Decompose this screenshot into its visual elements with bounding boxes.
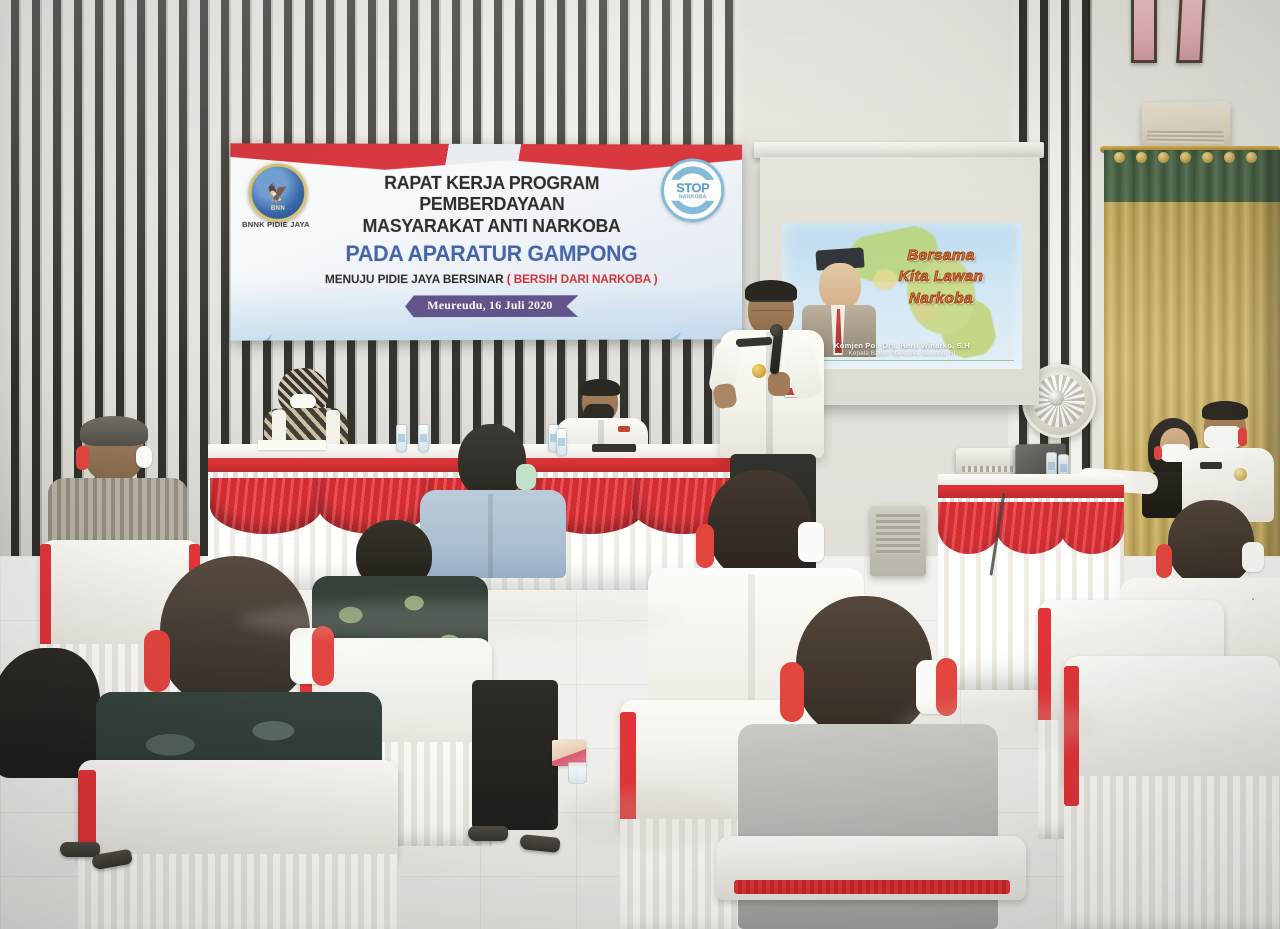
medal-icon	[752, 364, 766, 378]
mask-strap	[144, 630, 170, 692]
table-swag	[938, 502, 1000, 554]
mask-strap	[780, 662, 804, 722]
audience-5-head	[708, 470, 812, 580]
banner-title-line3: PADA APARATUR GAMPONG	[311, 241, 672, 267]
audience-7-mask	[1242, 542, 1264, 572]
bnn-emblem-icon: 🦅 BNN	[249, 163, 308, 221]
banner-subtitle-red: ( BERSIH DARI NARKOBA )	[507, 272, 658, 286]
audience-5-mask	[798, 522, 824, 562]
operator-table-red-band	[938, 485, 1124, 499]
mask-strap	[1154, 446, 1162, 460]
ventilation-window-icon	[1131, 0, 1157, 63]
microphone-head	[770, 324, 783, 337]
audience-1-mask	[136, 446, 152, 468]
floor-reflection	[560, 790, 740, 850]
panelist-right-hair	[580, 379, 620, 396]
water-bottle	[396, 424, 407, 452]
ac-vent	[1147, 131, 1224, 144]
bnn-mark: BNN	[252, 206, 305, 212]
panelist-left-mask	[290, 394, 316, 409]
audience-1-hair	[80, 416, 148, 446]
uniform-nameplate	[1200, 462, 1222, 469]
audience-chair-9	[1064, 656, 1280, 929]
mask-strap	[1156, 544, 1172, 578]
chair-skirt	[78, 854, 398, 929]
projection-screen-housing	[754, 142, 1044, 158]
audience-7-head	[1168, 500, 1254, 586]
ventilation-window-icon	[1176, 0, 1206, 63]
audience-member-8-shoulder	[0, 648, 100, 778]
floor-reflection	[900, 700, 1100, 750]
slide-headline: Bersama Kita Lawan Narkoba	[866, 245, 1016, 309]
curtain-grommet	[1202, 152, 1213, 163]
fan-hub	[1048, 390, 1064, 406]
uniform-emblem	[1234, 468, 1247, 481]
banner-subtitle: MENUJU PIDIE JAYA BERSINAR ( BERSIH DARI…	[315, 272, 668, 286]
mask-strap	[76, 446, 89, 470]
table-document-dark	[592, 444, 636, 452]
curtain-grommet	[1224, 152, 1235, 163]
narkoba-label: NARKOBA	[679, 194, 707, 200]
plaster-wall-mid	[745, 0, 1010, 145]
banner-title-line1: RAPAT KERJA PROGRAM PEMBERDAYAAN	[313, 172, 670, 215]
audience-2-mask	[516, 464, 536, 490]
operator-uniform-hair	[1202, 401, 1248, 420]
audience-chair-4	[78, 760, 398, 929]
curtain-grommet	[1114, 152, 1125, 163]
speaker-hair	[745, 280, 797, 302]
chair-sash	[40, 544, 51, 660]
table-swag	[996, 502, 1066, 554]
uniform-patch	[618, 426, 630, 432]
speaker-left-hand	[712, 383, 737, 410]
garuda-icon: 🦅	[267, 184, 288, 201]
banner-title-line2: MASYARAKAT ANTI NARKOBA	[313, 215, 670, 237]
banner-date-ribbon: Meureudu, 16 Juli 2020	[405, 295, 578, 317]
mask-strap	[696, 524, 714, 568]
shirt-seam	[488, 494, 493, 578]
curtain-grommet	[1246, 152, 1257, 163]
slide-line-1: Bersama	[865, 245, 1018, 266]
curtain-grommet	[1158, 152, 1169, 163]
operator-uniform-mask	[1204, 426, 1242, 448]
banner-subtitle-plain: MENUJU PIDIE JAYA BERSINAR	[325, 272, 507, 286]
audience-member-1	[48, 420, 188, 550]
cabinet-vent	[876, 514, 920, 554]
banner-text-block: RAPAT KERJA PROGRAM PEMBERDAYAAN MASYARA…	[305, 172, 677, 318]
glasses-icon	[751, 300, 792, 311]
curtain-grommet	[1136, 152, 1147, 163]
speaker-right-hand	[768, 372, 790, 396]
mask-strap	[1238, 428, 1247, 446]
curtain-grommet	[1180, 152, 1191, 163]
floor-reflection	[240, 600, 680, 640]
standing-person-legs	[472, 680, 558, 830]
audience-chair-6	[716, 836, 1026, 929]
table-swag	[1060, 502, 1124, 554]
slide-line-2: Kita Lawan	[865, 266, 1018, 287]
chair-ruffle	[734, 880, 1010, 894]
banner-red-band	[230, 143, 742, 170]
slide-line-3: Narkoba	[865, 288, 1018, 309]
document-papers	[258, 440, 326, 450]
air-conditioner-icon	[1142, 101, 1231, 149]
meeting-room-photo: 🦅 BNN BNNK PIDIE JAYA STOP NARKOBA RAPAT…	[0, 0, 1280, 929]
drinking-cup	[568, 762, 587, 784]
stop-label: STOP	[676, 181, 709, 194]
event-banner: 🦅 BNN BNNK PIDIE JAYA STOP NARKOBA RAPAT…	[230, 143, 742, 340]
sandal-icon	[468, 826, 508, 841]
audience-2-head	[458, 424, 526, 498]
table-swag	[210, 478, 322, 534]
chair-skirt	[1064, 776, 1280, 929]
